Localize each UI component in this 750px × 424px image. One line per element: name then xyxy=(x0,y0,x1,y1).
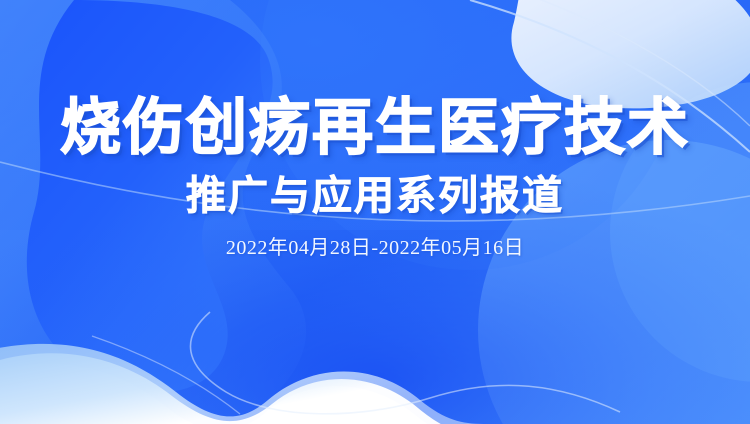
promo-banner: 烧伤创疡再生医疗技术 推广与应用系列报道 2022年04月28日-2022年05… xyxy=(0,0,750,424)
banner-date-range: 2022年04月28日-2022年05月16日 xyxy=(226,238,524,258)
banner-subtitle: 推广与应用系列报道 xyxy=(186,176,564,216)
banner-title: 烧伤创疡再生医疗技术 xyxy=(60,97,690,158)
banner-content: 烧伤创疡再生医疗技术 推广与应用系列报道 2022年04月28日-2022年05… xyxy=(0,0,750,424)
